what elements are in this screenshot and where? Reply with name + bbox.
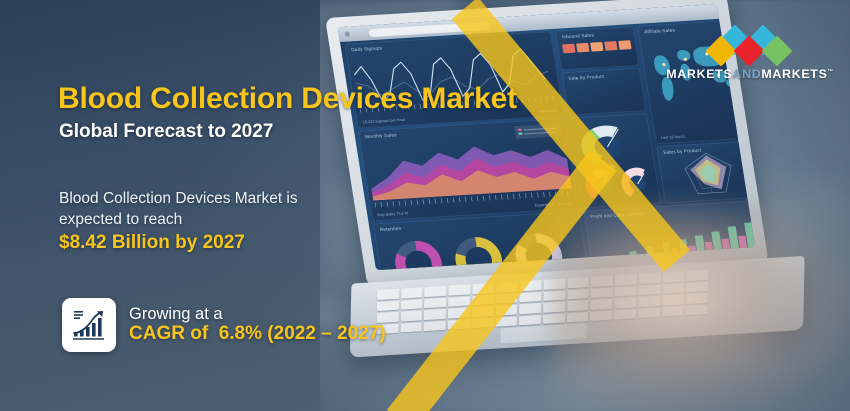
page-title: Blood Collection Devices Market bbox=[58, 82, 517, 116]
marketing-banner: Daily Signups 15,223 Signups per Hour An… bbox=[0, 0, 850, 411]
market-value: $8.42 Billion by 2027 bbox=[59, 232, 298, 253]
description-line-2: expected to reach bbox=[59, 211, 182, 228]
card-sales-by-product-radar: Sales by Product bbox=[656, 140, 755, 203]
description-line-1: Blood Collection Devices Market is bbox=[59, 190, 298, 207]
page-subtitle: Global Forecast to 2027 bbox=[59, 121, 273, 143]
card-sale-by-product: Sale by Product bbox=[561, 68, 646, 116]
wordmark-part2: MARKETS bbox=[761, 67, 827, 81]
card-title: Sale by Product bbox=[568, 74, 604, 81]
heat-cell bbox=[562, 44, 576, 54]
description-block: Blood Collection Devices Market is expec… bbox=[59, 188, 298, 253]
radar-chart bbox=[679, 149, 738, 198]
growth-chart-icon bbox=[62, 298, 116, 352]
text-content: Blood Collection Devices Market Global F… bbox=[0, 0, 560, 411]
gauge-target bbox=[619, 167, 656, 201]
trademark-symbol: ™ bbox=[828, 69, 834, 75]
cagr-block: Growing at a CAGR of 6.8% (2022 – 2027) bbox=[62, 298, 386, 352]
heatmap-cells bbox=[562, 40, 632, 53]
gauge-goal-progress: 65% bbox=[578, 124, 637, 169]
hand-fingers bbox=[580, 221, 790, 371]
cagr-text: Growing at a CAGR of 6.8% (2022 – 2027) bbox=[129, 306, 386, 344]
heat-cell bbox=[618, 40, 632, 50]
logo-wordmark: MARKETSANDMARKETS™ bbox=[664, 67, 836, 81]
card-title: Inbound Sales bbox=[561, 32, 594, 39]
cagr-value: CAGR of 6.8% (2022 – 2027) bbox=[129, 324, 386, 345]
card-inbound-sales: Inbound Sales bbox=[555, 26, 639, 70]
heat-cell bbox=[604, 41, 618, 51]
gauge-quota bbox=[583, 169, 620, 203]
heat-cell bbox=[576, 43, 590, 53]
cagr-prefix: Growing at a bbox=[129, 306, 386, 324]
heat-cell bbox=[590, 42, 604, 52]
card-footer: Last 12 Hours bbox=[661, 135, 685, 140]
logo-diamonds bbox=[696, 28, 804, 62]
brand-logo[interactable]: MARKETSANDMARKETS™ bbox=[664, 28, 836, 81]
card-gauges: 65% bbox=[569, 113, 662, 209]
wordmark-part1: MARKETS bbox=[666, 67, 732, 81]
growth-chart-glyph bbox=[70, 307, 108, 343]
kpi-value bbox=[571, 97, 575, 106]
wordmark-and: AND bbox=[732, 67, 761, 81]
